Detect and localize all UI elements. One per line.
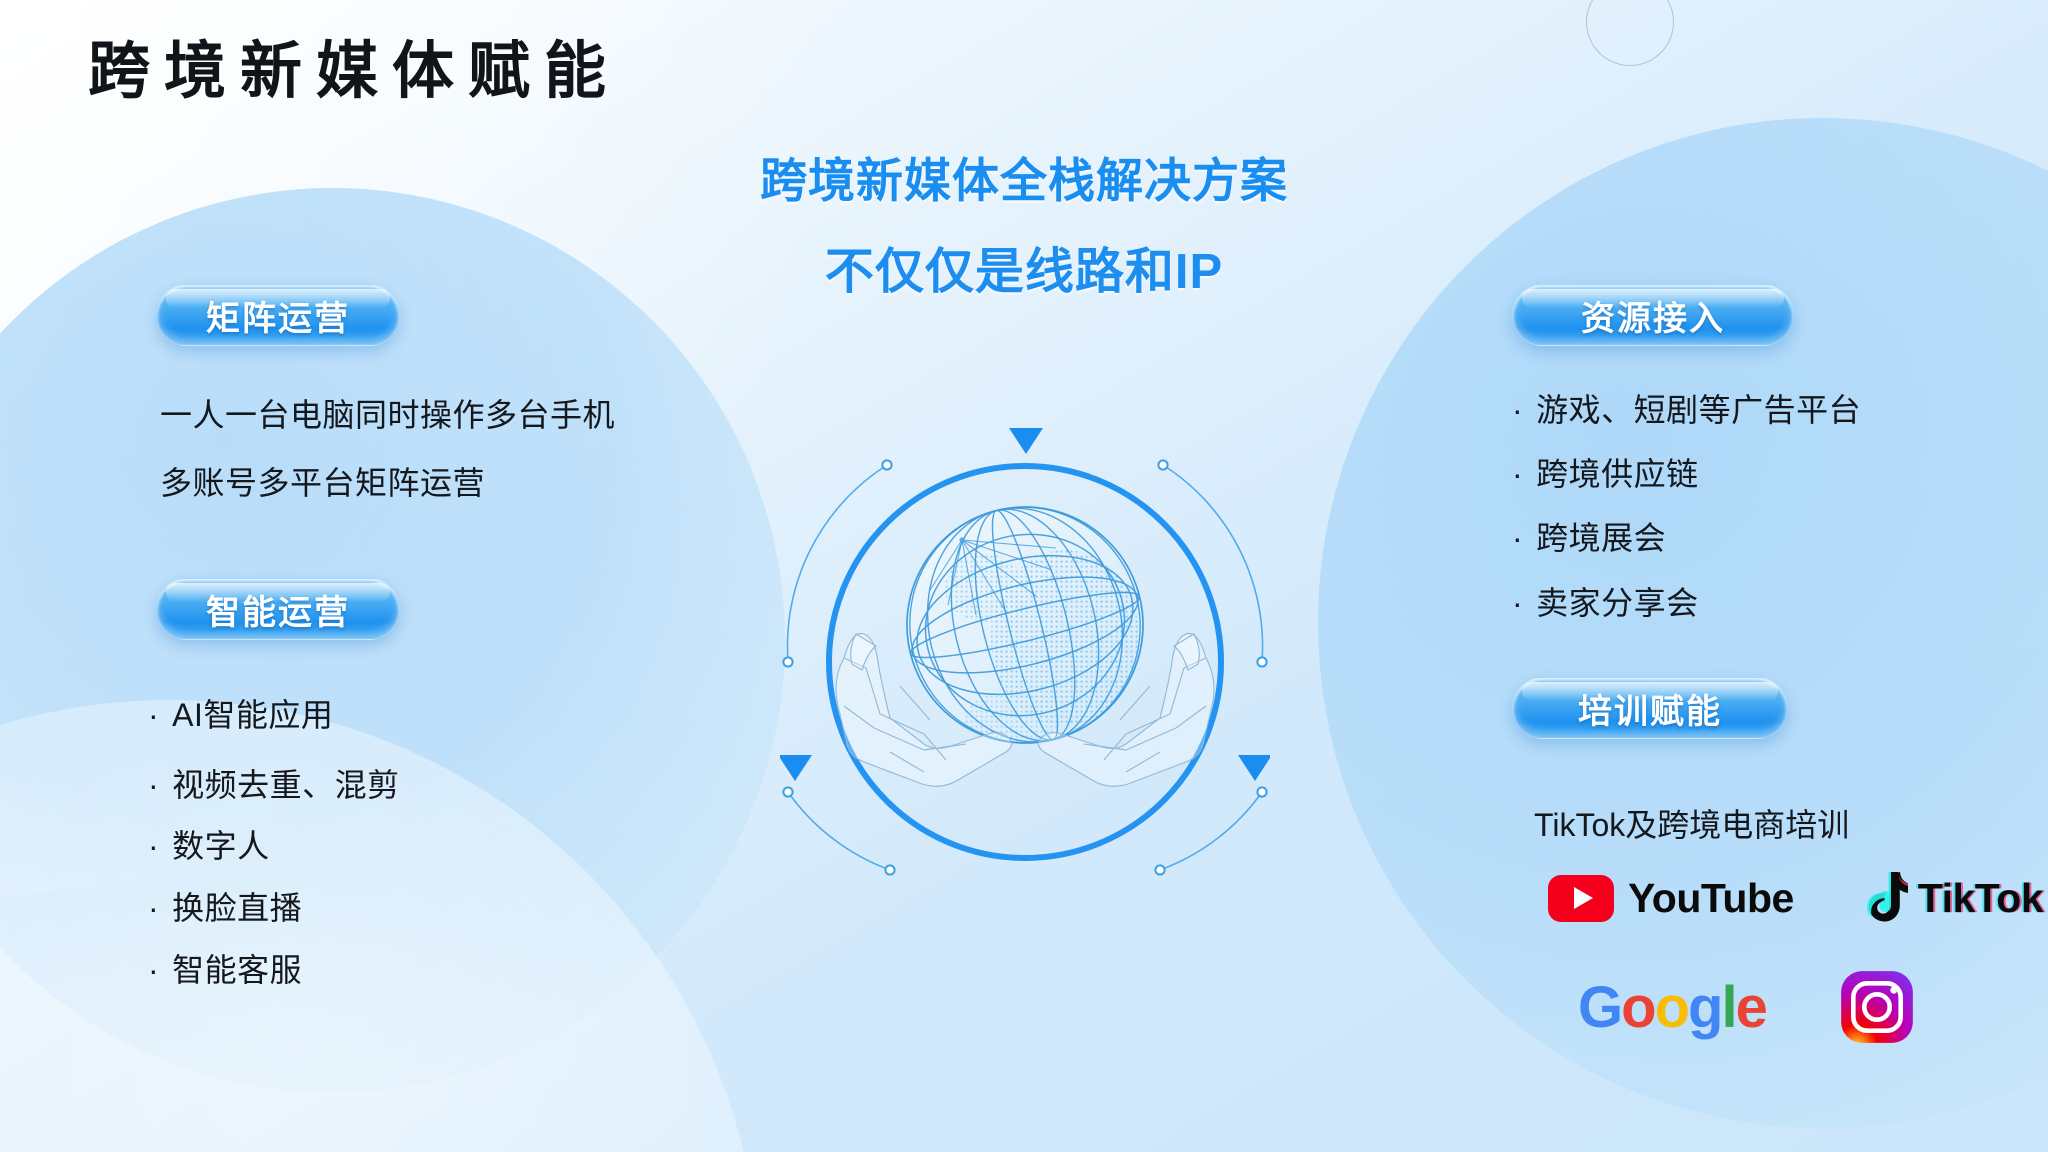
center-heading-secondary: 不仅仅是线路和IP: [560, 232, 1488, 303]
bullet-dot-icon: ·: [148, 769, 159, 801]
google-letter-o2: o: [1655, 974, 1688, 1041]
bullet-dot-icon: ·: [1512, 394, 1523, 426]
bullet-dot-icon: ·: [148, 892, 159, 924]
right-item-resource-4-text: 卖家分享会: [1536, 578, 1699, 624]
right-item-resource-2: · 跨境供应链: [1512, 449, 1699, 495]
tiktok-logo[interactable]: TikTok: [1860, 870, 2043, 926]
google-logo[interactable]: G o o g l e: [1578, 974, 1766, 1041]
left-item-matrix-1: 一人一台电脑同时操作多台手机: [160, 390, 615, 436]
center-heading-primary: 跨境新媒体全栈解决方案: [560, 142, 1488, 211]
left-item-smart-2: · 视频去重、混剪: [148, 760, 400, 806]
page-title: 跨境新媒体赋能: [88, 36, 620, 107]
left-item-smart-3: · 数字人: [148, 821, 270, 867]
badge-resource-access-label: 资源接入: [1581, 291, 1725, 340]
bullet-dot-icon: ·: [1512, 587, 1523, 619]
badge-smart-operations-label: 智能运营: [206, 585, 350, 634]
badge-training-empowerment-label: 培训赋能: [1578, 684, 1722, 733]
left-item-smart-5: · 智能客服: [148, 945, 302, 991]
right-item-resource-1: · 游戏、短剧等广告平台: [1512, 385, 1861, 431]
left-item-smart-3-text: 数字人: [172, 821, 270, 867]
slide-canvas: 跨境新媒体赋能 跨境新媒体全栈解决方案 不仅仅是线路和IP 矩阵运营 一人一台电…: [0, 0, 2048, 1152]
left-item-smart-4: · 换脸直播: [148, 883, 302, 929]
logo-row-bottom: G o o g l e: [1578, 970, 1914, 1044]
google-letter-e: e: [1736, 974, 1766, 1041]
bullet-dot-icon: ·: [1512, 522, 1523, 554]
tiktok-note-icon: [1860, 870, 1908, 926]
tiktok-wordmark: TikTok: [1918, 875, 2043, 922]
decorative-ring-icon: [1586, 0, 1674, 66]
left-item-smart-4-text: 换脸直播: [172, 883, 302, 929]
badge-resource-access[interactable]: 资源接入: [1512, 284, 1794, 346]
left-item-smart-1-text: AI智能应用: [172, 690, 333, 736]
right-item-resource-2-text: 跨境供应链: [1536, 449, 1699, 495]
center-heading-primary-text: 跨境新媒体全栈解决方案: [760, 154, 1288, 207]
badge-matrix-operations-label: 矩阵运营: [206, 291, 350, 340]
youtube-play-icon: [1548, 875, 1614, 922]
bullet-dot-icon: ·: [148, 830, 159, 862]
badge-training-empowerment[interactable]: 培训赋能: [1512, 677, 1788, 739]
right-item-training-1: TikTok及跨境电商培训: [1534, 800, 1849, 846]
hands-holding-globe-illustration: [780, 400, 1270, 890]
left-item-smart-2-text: 视频去重、混剪: [172, 760, 400, 806]
left-item-smart-5-text: 智能客服: [172, 945, 302, 991]
google-letter-l: l: [1721, 974, 1735, 1041]
google-letter-o1: o: [1621, 974, 1654, 1041]
bullet-dot-icon: ·: [148, 954, 159, 986]
right-item-resource-3-text: 跨境展会: [1536, 513, 1666, 559]
wireframe-globe: [885, 483, 1165, 768]
bullet-dot-icon: ·: [148, 699, 159, 731]
youtube-logo[interactable]: YouTube: [1548, 875, 1794, 922]
badge-smart-operations[interactable]: 智能运营: [156, 578, 400, 640]
badge-matrix-operations[interactable]: 矩阵运营: [156, 284, 400, 346]
google-letter-g2: g: [1688, 974, 1721, 1041]
center-heading-secondary-text: 不仅仅是线路和IP: [825, 245, 1223, 299]
bullet-dot-icon: ·: [1512, 458, 1523, 490]
youtube-wordmark: YouTube: [1628, 875, 1794, 922]
google-letter-g1: G: [1578, 974, 1621, 1041]
right-item-resource-3: · 跨境展会: [1512, 513, 1666, 559]
instagram-logo[interactable]: [1840, 970, 1914, 1044]
logo-row-top: YouTube TikTok: [1548, 870, 2043, 926]
left-item-smart-1: · AI智能应用: [148, 690, 333, 736]
left-item-matrix-2: 多账号多平台矩阵运营: [160, 458, 485, 504]
right-item-resource-1-text: 游戏、短剧等广告平台: [1536, 385, 1861, 431]
right-item-resource-4: · 卖家分享会: [1512, 578, 1699, 624]
